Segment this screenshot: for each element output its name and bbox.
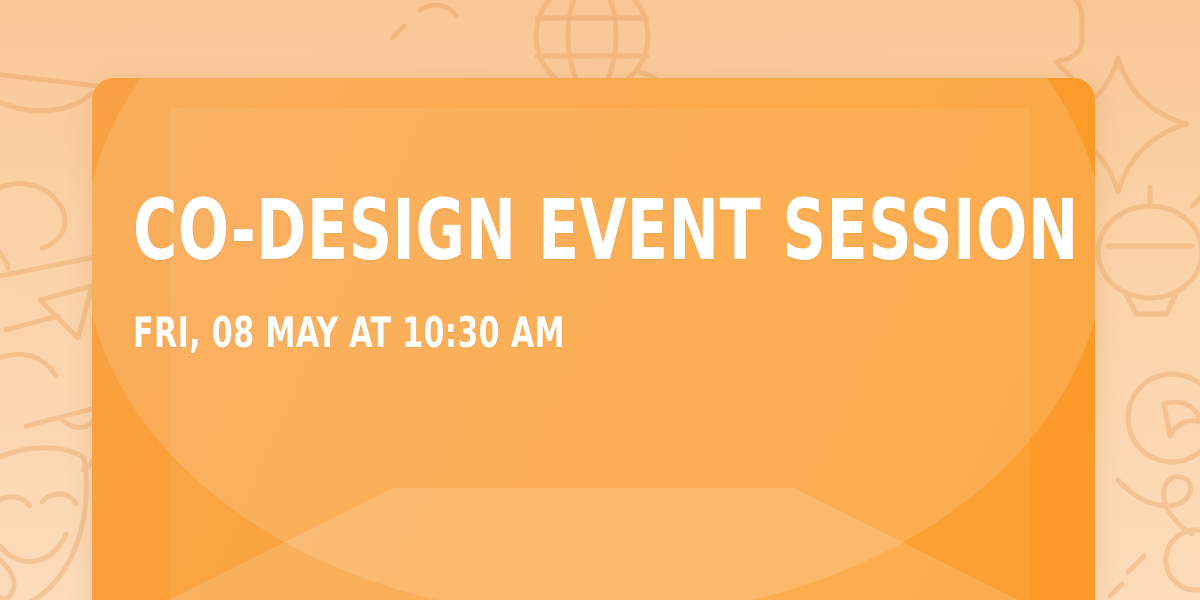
event-card-content: CO-DESIGN EVENT SESSION 1 FRI, 08 MAY AT… xyxy=(133,188,1055,354)
event-banner: CO-DESIGN EVENT SESSION 1 FRI, 08 MAY AT… xyxy=(0,0,1200,600)
event-card[interactable]: CO-DESIGN EVENT SESSION 1 FRI, 08 MAY AT… xyxy=(92,78,1095,600)
event-title: CO-DESIGN EVENT SESSION 1 xyxy=(133,188,871,272)
event-datetime: FRI, 08 MAY AT 10:30 AM xyxy=(133,312,871,354)
